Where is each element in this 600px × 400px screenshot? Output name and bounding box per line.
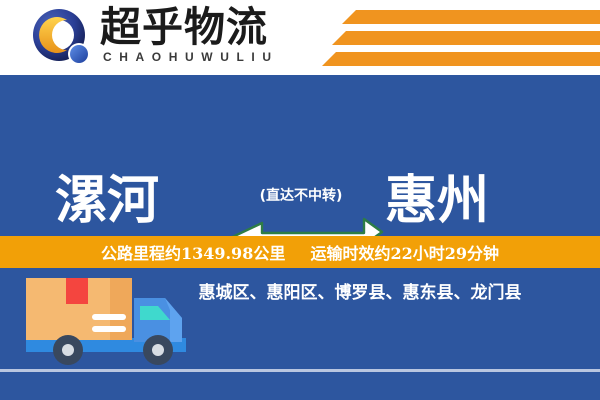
distance-text: 公路里程约1349.98公里 (101, 244, 285, 263)
direct-route-note: (直达不中转) (222, 185, 380, 205)
brand-name: 超乎物流 (100, 5, 268, 49)
origin-city: 漯河 (55, 173, 159, 229)
route-info-bar: 公路里程约1349.98公里 运输时效约22小时29分钟 (0, 236, 600, 268)
header-stripes-decoration (320, 10, 600, 66)
route-section: 漯河 (直达不中转) 【往返运输】 惠州 (0, 75, 600, 236)
duration-text: 运输时效约22小时29分钟 (310, 244, 499, 263)
covered-districts: 惠城区、惠阳区、博罗县、惠东县、龙门县 (140, 278, 580, 303)
coverage-section: 惠城区、惠阳区、博罗县、惠东县、龙门县 (0, 268, 600, 400)
destination-city: 惠州 (385, 173, 489, 229)
brand-pinyin: CHAOHUWULIU (103, 50, 279, 64)
stripe-2 (332, 31, 600, 45)
ground-divider-line (0, 369, 600, 372)
logistics-route-banner: 超乎物流 CHAOHUWULIU 漯河 (直达不中转) 【往返运输】 惠州 公路… (0, 0, 600, 400)
circle-crescent-logo-icon (32, 8, 94, 68)
banner-header: 超乎物流 CHAOHUWULIU (0, 0, 600, 75)
info-bar-content: 公路里程约1349.98公里 运输时效约22小时29分钟 (101, 240, 499, 264)
stripe-1 (342, 10, 600, 24)
delivery-truck-icon (22, 276, 187, 373)
stripe-3 (322, 52, 600, 66)
